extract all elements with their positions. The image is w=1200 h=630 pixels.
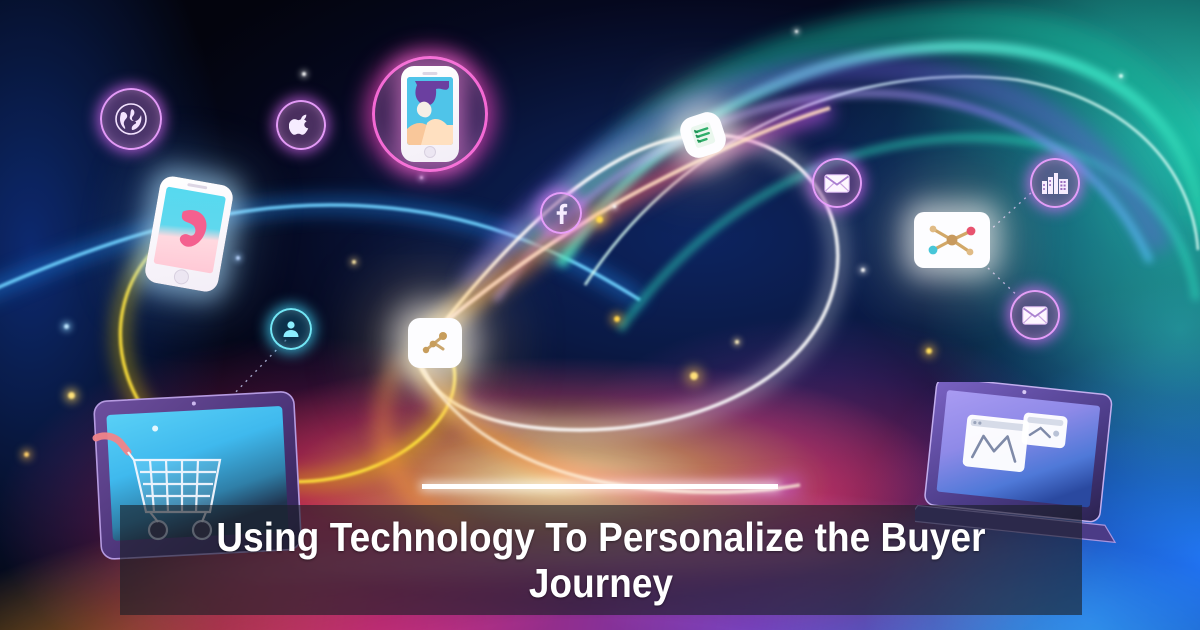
connector-network-to-mail [988, 268, 1022, 300]
apple-logo-icon [276, 100, 326, 150]
hero-banner: Using Technology To Personalize the Buye… [0, 0, 1200, 630]
smartphone-avatar-icon [372, 56, 488, 172]
globe-icon [100, 88, 162, 150]
share-node-icon [408, 318, 462, 368]
network-share-icon [914, 212, 990, 268]
user-profile-icon [270, 308, 312, 350]
facebook-icon [540, 192, 582, 234]
envelope-icon [1010, 290, 1060, 340]
connector-network-to-city [988, 192, 1032, 232]
page-title: Using Technology To Personalize the Buye… [168, 514, 1034, 607]
title-divider-rule [422, 484, 778, 489]
city-buildings-icon [1030, 158, 1080, 208]
envelope-icon [812, 158, 862, 208]
title-overlay-plate: Using Technology To Personalize the Buye… [120, 505, 1082, 615]
